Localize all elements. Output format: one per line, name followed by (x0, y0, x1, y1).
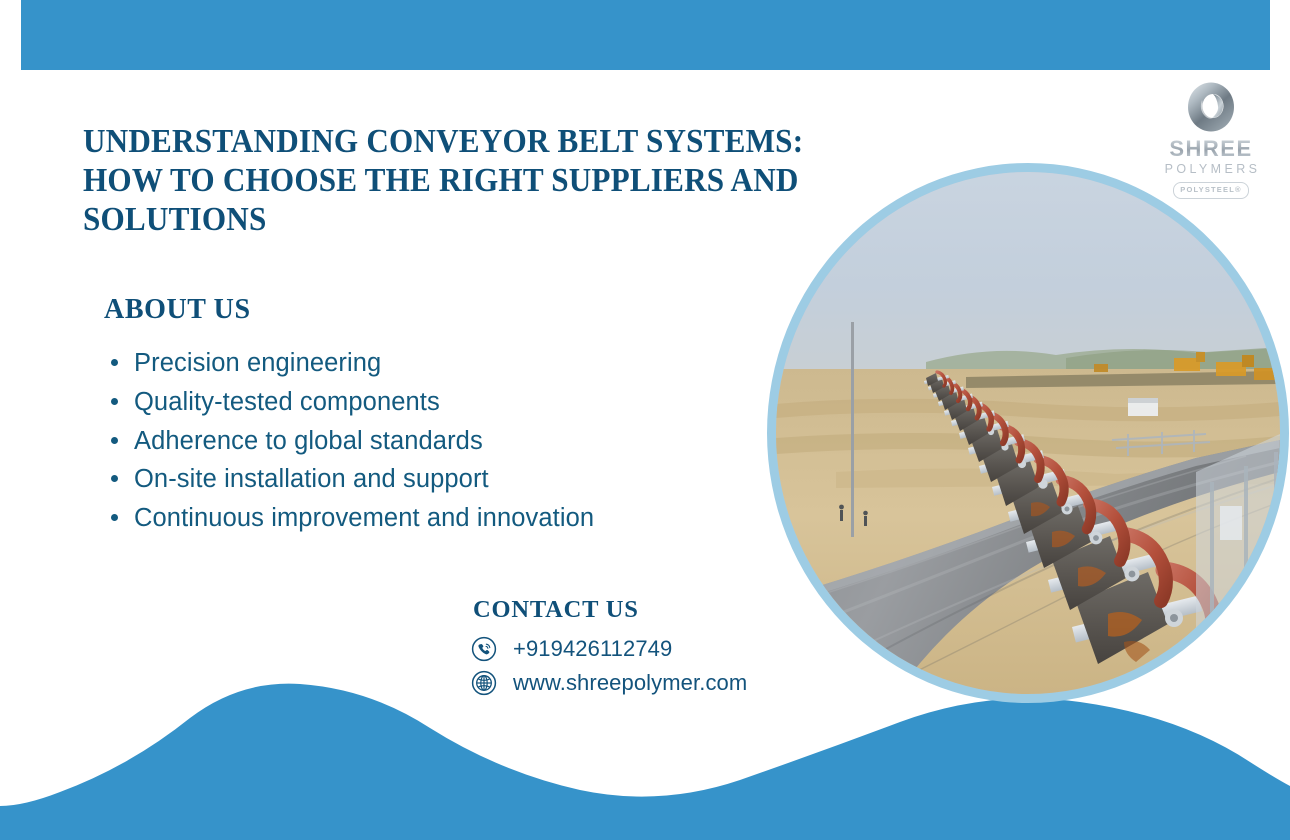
list-item-label: Adherence to global standards (134, 427, 483, 455)
bullet-icon (111, 514, 118, 521)
logo-subtitle: POLYMERS (1158, 160, 1267, 179)
website-url: www.shreepolymer.com (513, 670, 747, 696)
list-item: Quality-tested components (104, 383, 624, 422)
contact-row-phone[interactable]: +919426112749 (471, 636, 747, 662)
polysteel-badge: POLYSTEEL® (1173, 182, 1249, 199)
phone-icon (471, 636, 497, 662)
about-us-section: About Us Precision engineering Quality-t… (104, 294, 624, 538)
list-item-label: Quality-tested components (134, 388, 440, 416)
poster-canvas: Understanding Conveyor Belt Systems: How… (0, 0, 1290, 840)
list-item-label: On-site installation and support (134, 465, 489, 493)
list-item-label: Continuous improvement and innovation (134, 504, 594, 532)
list-item: Adherence to global standards (104, 422, 624, 461)
ring-swirl-icon (1180, 80, 1242, 134)
globe-icon (471, 670, 497, 696)
contact-us-section: Contact Us +919426112749 (471, 596, 747, 704)
list-item-label: Precision engineering (134, 349, 381, 377)
conveyor-belt-photo (767, 163, 1289, 703)
phone-number: +919426112749 (513, 636, 672, 662)
bullet-icon (111, 475, 118, 482)
top-blue-bar (21, 0, 1270, 70)
bullet-icon (111, 437, 118, 444)
brand-logo: SHREE POLYMERS POLYSTEEL® (1155, 80, 1267, 199)
bullet-icon (111, 398, 118, 405)
list-item: On-site installation and support (104, 460, 624, 499)
list-item: Precision engineering (104, 344, 624, 383)
contact-row-website[interactable]: www.shreepolymer.com (471, 670, 747, 696)
about-us-heading: About Us (104, 294, 624, 326)
photo-inner (776, 172, 1280, 694)
about-us-list: Precision engineering Quality-tested com… (104, 344, 624, 538)
logo-wordmark: SHREE (1155, 138, 1267, 160)
contact-us-heading: Contact Us (473, 596, 747, 624)
bullet-icon (111, 359, 118, 366)
page-title: Understanding Conveyor Belt Systems: How… (83, 123, 827, 240)
conveyor-belt-illustration (776, 172, 1280, 694)
list-item: Continuous improvement and innovation (104, 499, 624, 538)
